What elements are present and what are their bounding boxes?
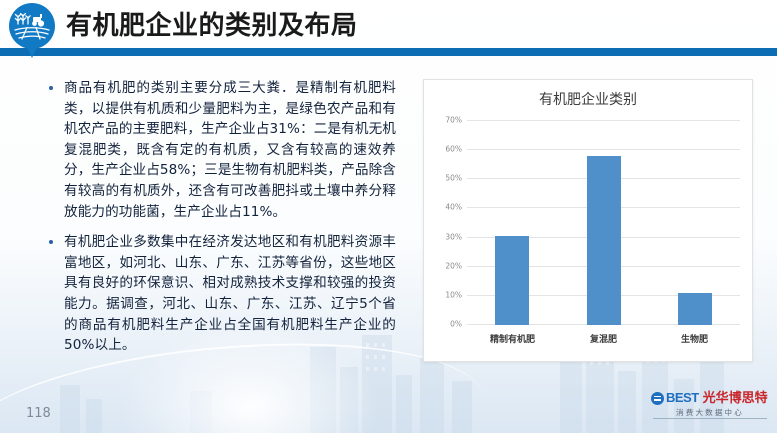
- body-text-column: 商品有机肥的类别主要分成三大粪．是精制有机肥料类，以提供有机质和少量肥料为主，是…: [46, 78, 396, 366]
- bullet-text: 有机肥企业多数集中在经济发达地区和有机肥料资源丰富地区，如河北、山东、广东、江苏…: [64, 232, 396, 356]
- bullet-item: 有机肥企业多数集中在经济发达地区和有机肥料资源丰富地区，如河北、山东、广东、江苏…: [46, 232, 396, 356]
- chart-x-tick-label: 生物肥: [681, 332, 708, 345]
- bullet-dot-icon: [49, 86, 53, 90]
- chart-bar[interactable]: [678, 293, 712, 325]
- location-pin-agriculture-icon: [9, 3, 55, 59]
- chart-gridline: 60%: [467, 149, 740, 150]
- brand-latin-text: BEST: [666, 391, 699, 405]
- chart-y-tick-label: 60%: [445, 145, 462, 154]
- header-accent-bar: [0, 48, 777, 56]
- slide: 有机肥企业的类别及布局 商品有机肥的类别主要分成三大粪．是精制有机肥料类，以提供…: [0, 0, 777, 433]
- chart-y-tick-label: 30%: [445, 232, 462, 241]
- brand-subtitle: 消费大数据中心: [651, 407, 769, 418]
- bullet-dot-icon: [49, 240, 53, 244]
- chart-y-tick-label: 10%: [445, 290, 462, 299]
- chart-panel: 有机肥企业类别 0%10%20%30%40%50%60%70%精制有机肥复混肥生…: [423, 79, 753, 362]
- chart-y-tick-label: 20%: [445, 261, 462, 270]
- bullet-text: 商品有机肥的类别主要分成三大粪．是精制有机肥料类，以提供有机质和少量肥料为主，是…: [64, 78, 396, 222]
- chart-y-tick-label: 40%: [445, 203, 462, 212]
- chart-x-tick-label: 精制有机肥: [490, 332, 535, 345]
- best-circle-logo-icon: [651, 392, 664, 405]
- brand-divider: [653, 418, 767, 419]
- chart-gridline: 70%: [467, 120, 740, 121]
- chart-bar[interactable]: [495, 236, 529, 325]
- page-title: 有机肥企业的类别及布局: [66, 7, 358, 43]
- page-number: 118: [26, 406, 51, 421]
- chart-y-tick-label: 50%: [445, 174, 462, 183]
- chart-y-tick-label: 0%: [450, 320, 462, 329]
- chart-y-tick-label: 70%: [445, 116, 462, 125]
- chart-bar[interactable]: [587, 156, 621, 325]
- chart-x-tick-label: 复混肥: [590, 332, 617, 345]
- chart-title: 有机肥企业类别: [424, 89, 752, 109]
- chart-plot-area: 0%10%20%30%40%50%60%70%精制有机肥复混肥生物肥: [467, 121, 740, 325]
- bullet-item: 商品有机肥的类别主要分成三大粪．是精制有机肥料类，以提供有机质和少量肥料为主，是…: [46, 78, 396, 222]
- slide-header: 有机肥企业的类别及布局: [0, 0, 777, 58]
- brand-logo: BEST 光华博思特 消费大数据中心: [651, 391, 769, 425]
- brand-cn-text: 光华博思特: [703, 391, 768, 405]
